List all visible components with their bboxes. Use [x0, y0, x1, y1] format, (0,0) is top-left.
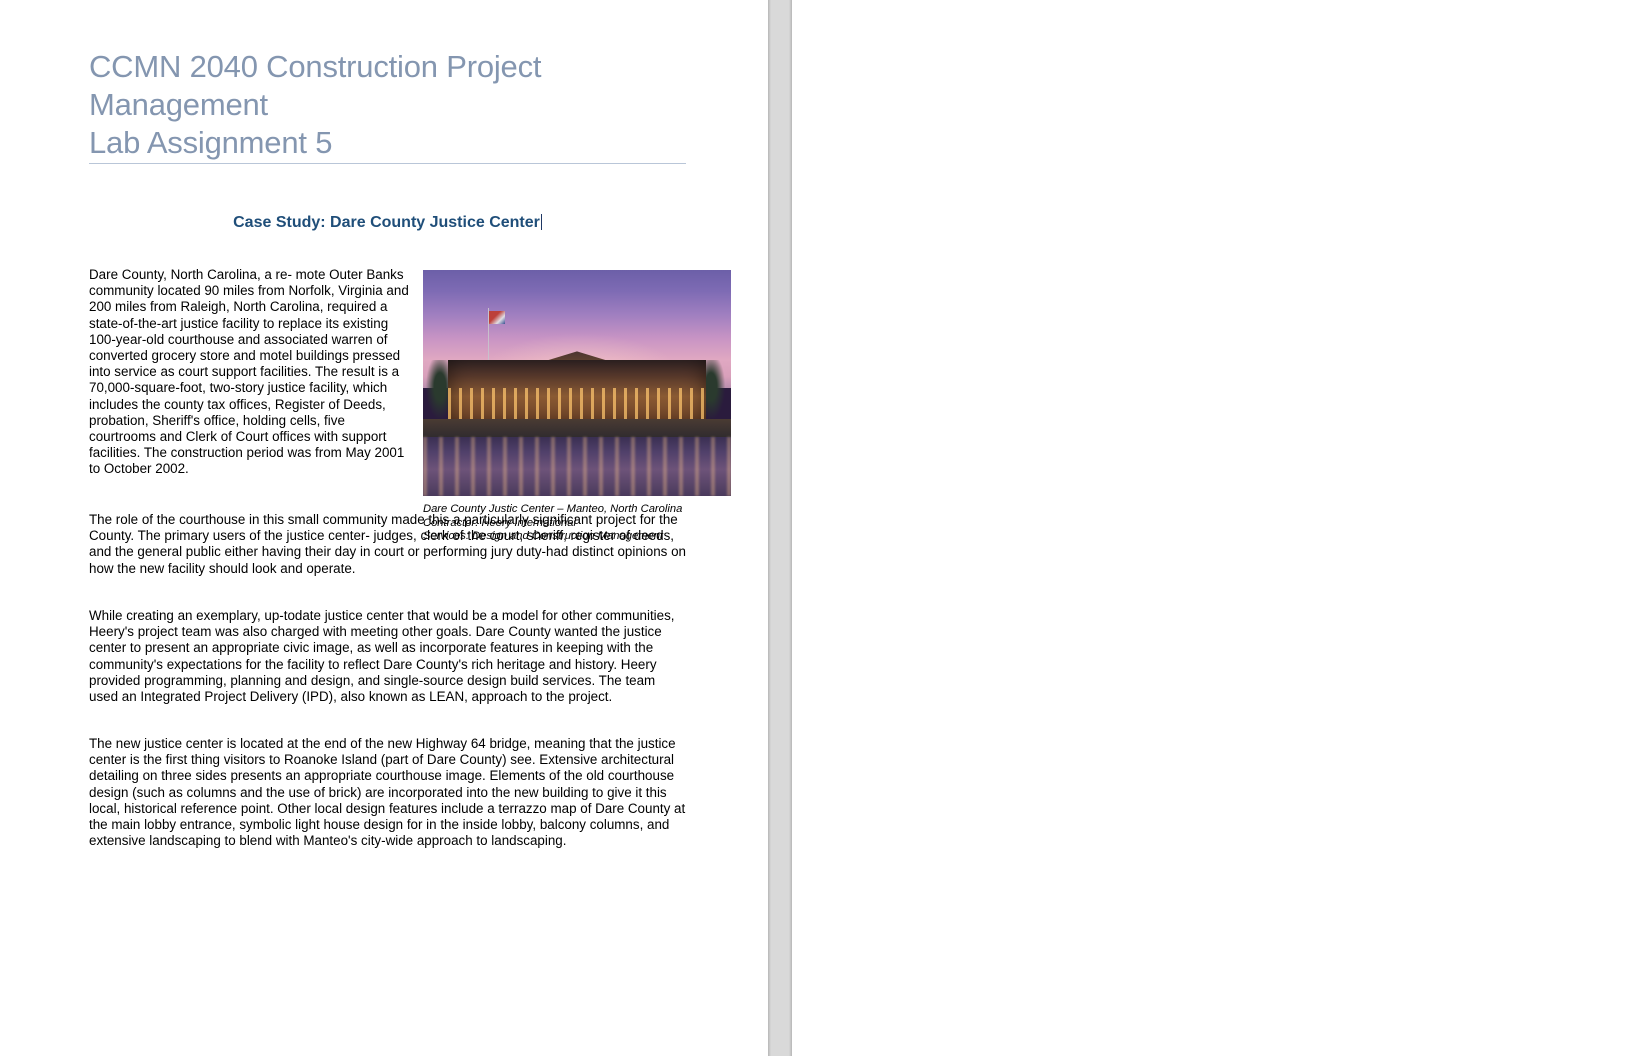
page-title: CCMN 2040 Construction Project Managemen…: [89, 48, 649, 162]
case-study-heading: Case Study: Dare County Justice Center: [89, 214, 686, 232]
photo-water-reflection: [423, 437, 731, 496]
document-viewport: CCMN 2040 Construction Project Managemen…: [0, 0, 1651, 1056]
case-study-heading-text: Case Study: Dare County Justice Center: [233, 214, 540, 231]
header-divider: [89, 163, 686, 164]
body-paragraph-4: The new justice center is located at the…: [89, 736, 686, 849]
body-paragraph-2: The role of the courthouse in this small…: [89, 512, 686, 577]
photo-flag: [489, 311, 504, 325]
page-gutter: [768, 0, 792, 1056]
body-paragraph-1: Dare County, North Carolina, a re- mote …: [89, 267, 415, 478]
photo-building-lights: [448, 388, 707, 420]
document-page-left: CCMN 2040 Construction Project Managemen…: [0, 0, 768, 1056]
justice-center-photo: [423, 270, 731, 496]
body-paragraph-3: While creating an exemplary, up-todate j…: [89, 608, 686, 705]
text-cursor: [541, 214, 542, 230]
document-page-right: CCMN 2040 Construction Project Managemen…: [792, 0, 1651, 1056]
